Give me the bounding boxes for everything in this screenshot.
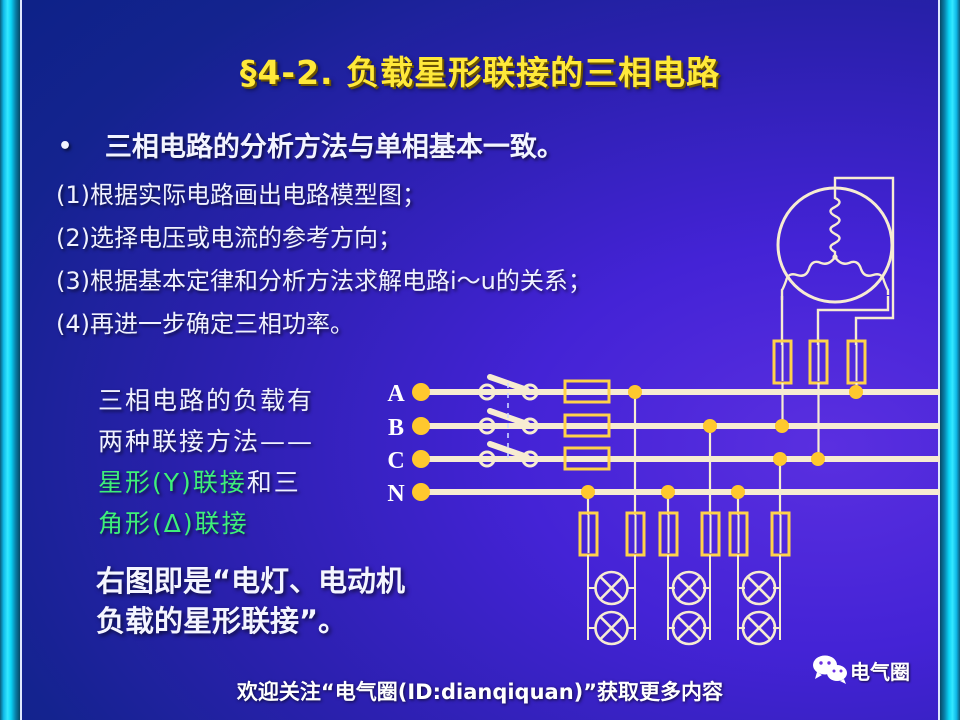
main-bullet-line: • 三相电路的分析方法与单相基本一致。 [58, 125, 564, 164]
bullet-dot-icon: • [58, 134, 72, 159]
emphasis-line-1: 右图即是“电灯、电动机 [96, 558, 405, 600]
body-text-line-1: 三相电路的负载有 [98, 381, 314, 417]
body-text-line-3: 星形(Y)联接和三 [98, 463, 301, 499]
delta-connection-term: 角形(Δ)联接 [98, 504, 249, 540]
main-bullet-text: 三相电路的分析方法与单相基本一致。 [105, 132, 564, 163]
wechat-badge: 电气圈 [812, 650, 942, 696]
numbered-step-3: (3)根据基本定律和分析方法求解电路i～u的关系； [56, 261, 592, 296]
right-decorative-edge [940, 0, 960, 720]
slide-title: §4-2. 负载星形联接的三相电路 [0, 46, 960, 94]
star-connection-term: 星形(Y)联接 [98, 468, 247, 497]
wechat-badge-label: 电气圈 [850, 656, 910, 685]
numbered-step-1: (1)根据实际电路画出电路模型图； [56, 175, 426, 210]
wechat-icon [812, 654, 848, 684]
body-text-line-3-tail: 和三 [247, 468, 301, 497]
left-decorative-edge [0, 0, 20, 720]
left-edge-rule [20, 0, 22, 720]
right-edge-rule [938, 0, 940, 720]
numbered-step-2: (2)选择电压或电流的参考方向； [56, 218, 402, 253]
numbered-step-4: (4)再进一步确定三相功率。 [56, 304, 354, 339]
slide-root: §4-2. 负载星形联接的三相电路 • 三相电路的分析方法与单相基本一致。 (1… [0, 0, 960, 720]
body-text-line-2: 两种联接方法—— [98, 422, 314, 458]
emphasis-line-2: 负载的星形联接”。 [96, 598, 347, 640]
